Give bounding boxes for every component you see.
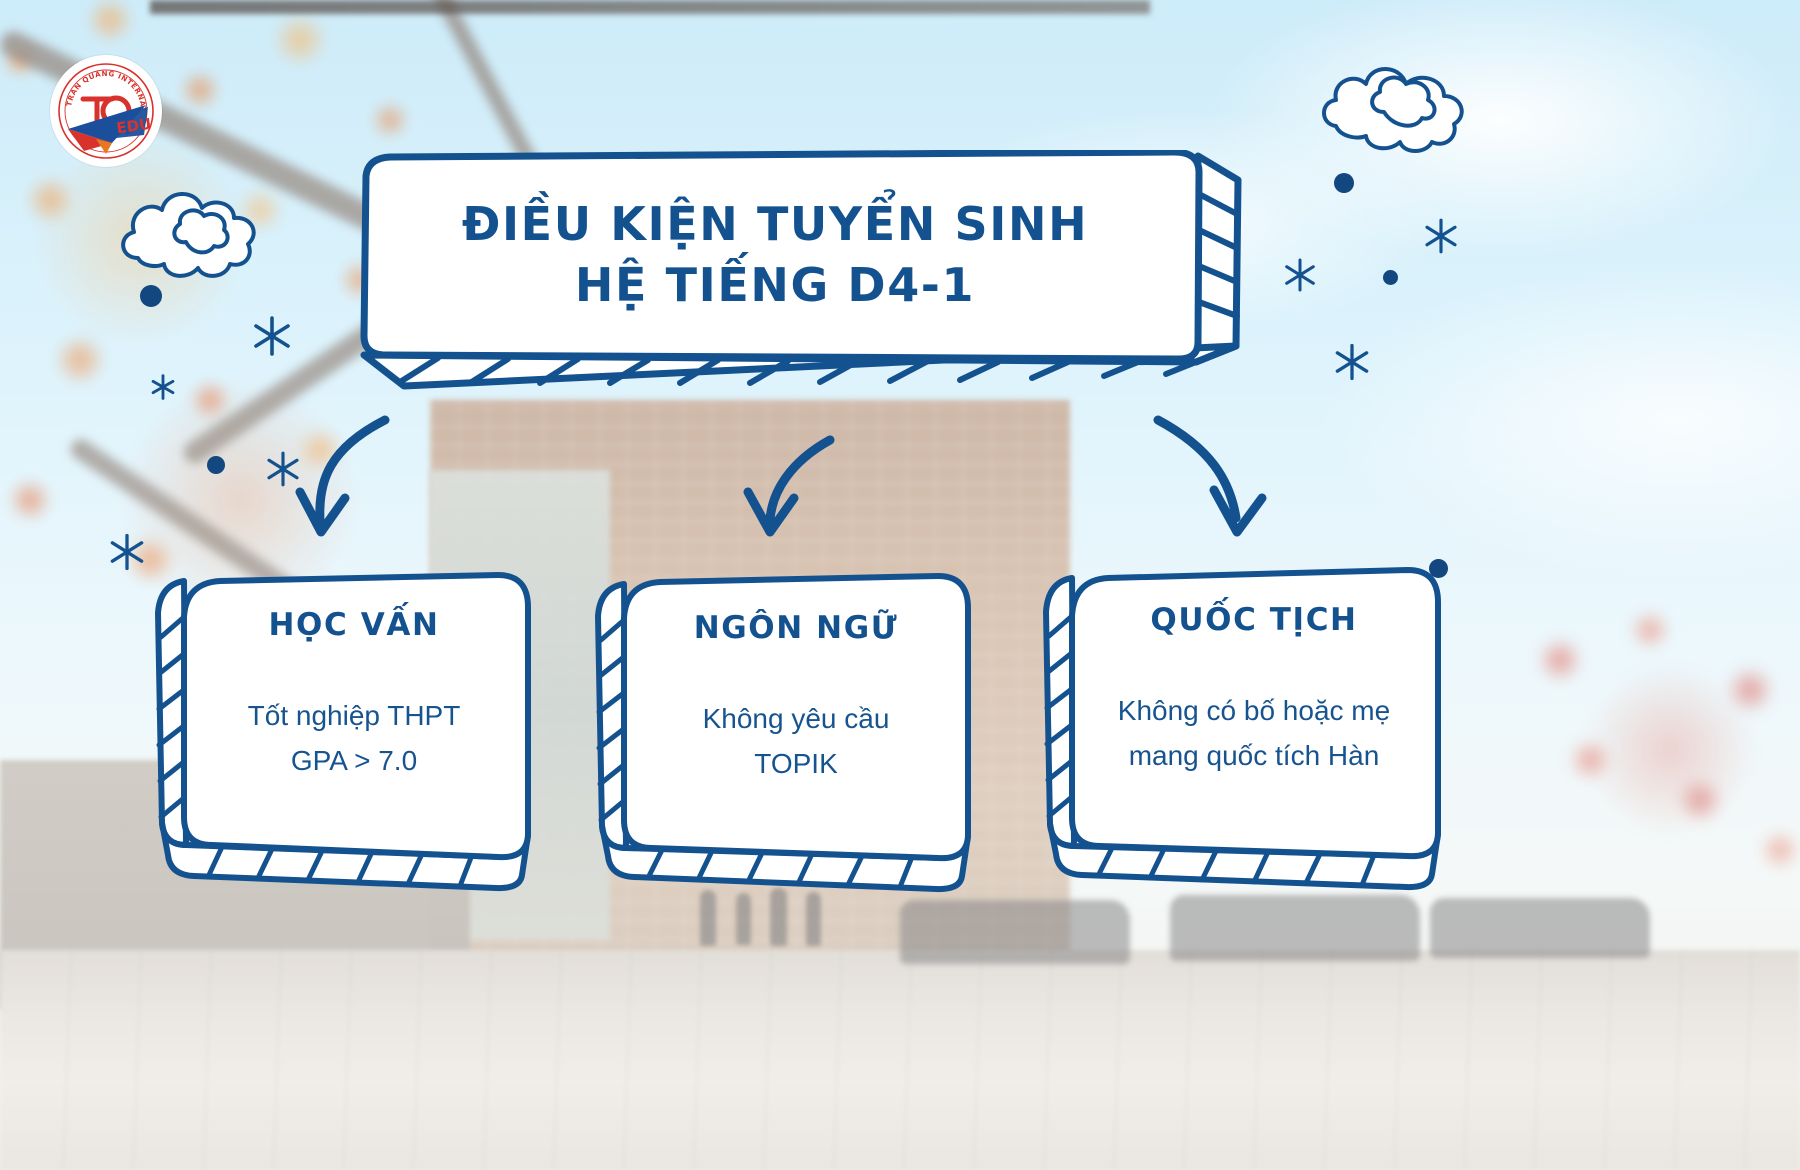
title-banner: ĐIỀU KIỆN TUYỂN SINH HỆ TIẾNG D4-1 <box>350 150 1245 405</box>
sparkle-icon <box>1280 255 1320 295</box>
sparkle-icon <box>105 530 149 574</box>
title-line-2: HỆ TIẾNG D4-1 <box>575 257 975 315</box>
dot-icon <box>140 285 162 307</box>
card-title: QUỐC TỊCH <box>1150 602 1357 638</box>
dot-icon <box>207 456 225 474</box>
card-line-1: Tốt nghiệp THPT <box>248 693 461 738</box>
card-title: HỌC VẤN <box>269 607 440 643</box>
card-lines: Tốt nghiệp THPT GPA > 7.0 <box>248 693 461 784</box>
sparkle-icon <box>1330 340 1374 384</box>
dot-icon <box>1383 270 1398 285</box>
sparkle-icon <box>248 312 296 360</box>
card-content: NGÔN NGỮ Không yêu cầu TOPIK <box>622 562 970 880</box>
card-line-2: TOPIK <box>703 741 890 786</box>
card-line-2: GPA > 7.0 <box>248 738 461 783</box>
card-content: HỌC VẤN Tốt nghiệp THPT GPA > 7.0 <box>180 559 528 877</box>
dot-icon <box>1334 173 1354 193</box>
sparkle-icon <box>1420 215 1462 257</box>
card-title: NGÔN NGỮ <box>694 610 899 646</box>
card-content: QUỐC TỊCH Không có bố hoặc mẹ mang quốc … <box>1070 554 1438 872</box>
sparkle-icon <box>262 448 304 490</box>
card-line-1: Không yêu cầu <box>703 696 890 741</box>
cloud-icon <box>1312 50 1474 170</box>
card-line-1: Không có bố hoặc mẹ <box>1118 688 1390 733</box>
tran-quang-logo[interactable]: TRAN QUANG INTERNATIONAL STUDY EDU <box>50 55 162 167</box>
title-line-1: ĐIỀU KIỆN TUYỂN SINH <box>462 196 1088 254</box>
infographic-canvas: TRAN QUANG INTERNATIONAL STUDY EDU <box>0 0 1800 1170</box>
requirement-card-nationality[interactable]: QUỐC TỊCH Không có bố hoặc mẹ mang quốc … <box>1040 540 1452 890</box>
title-text-block: ĐIỀU KIỆN TUYỂN SINH HỆ TIẾNG D4-1 <box>350 150 1200 360</box>
requirement-card-language[interactable]: NGÔN NGỮ Không yêu cầu TOPIK <box>592 548 982 898</box>
requirement-card-education[interactable]: HỌC VẤN Tốt nghiệp THPT GPA > 7.0 <box>150 545 540 895</box>
card-lines: Không có bố hoặc mẹ mang quốc tích Hàn <box>1118 688 1390 779</box>
sparkle-icon <box>146 370 180 404</box>
card-line-2: mang quốc tích Hàn <box>1118 733 1390 778</box>
cloud-icon <box>108 170 283 295</box>
card-lines: Không yêu cầu TOPIK <box>703 696 890 787</box>
